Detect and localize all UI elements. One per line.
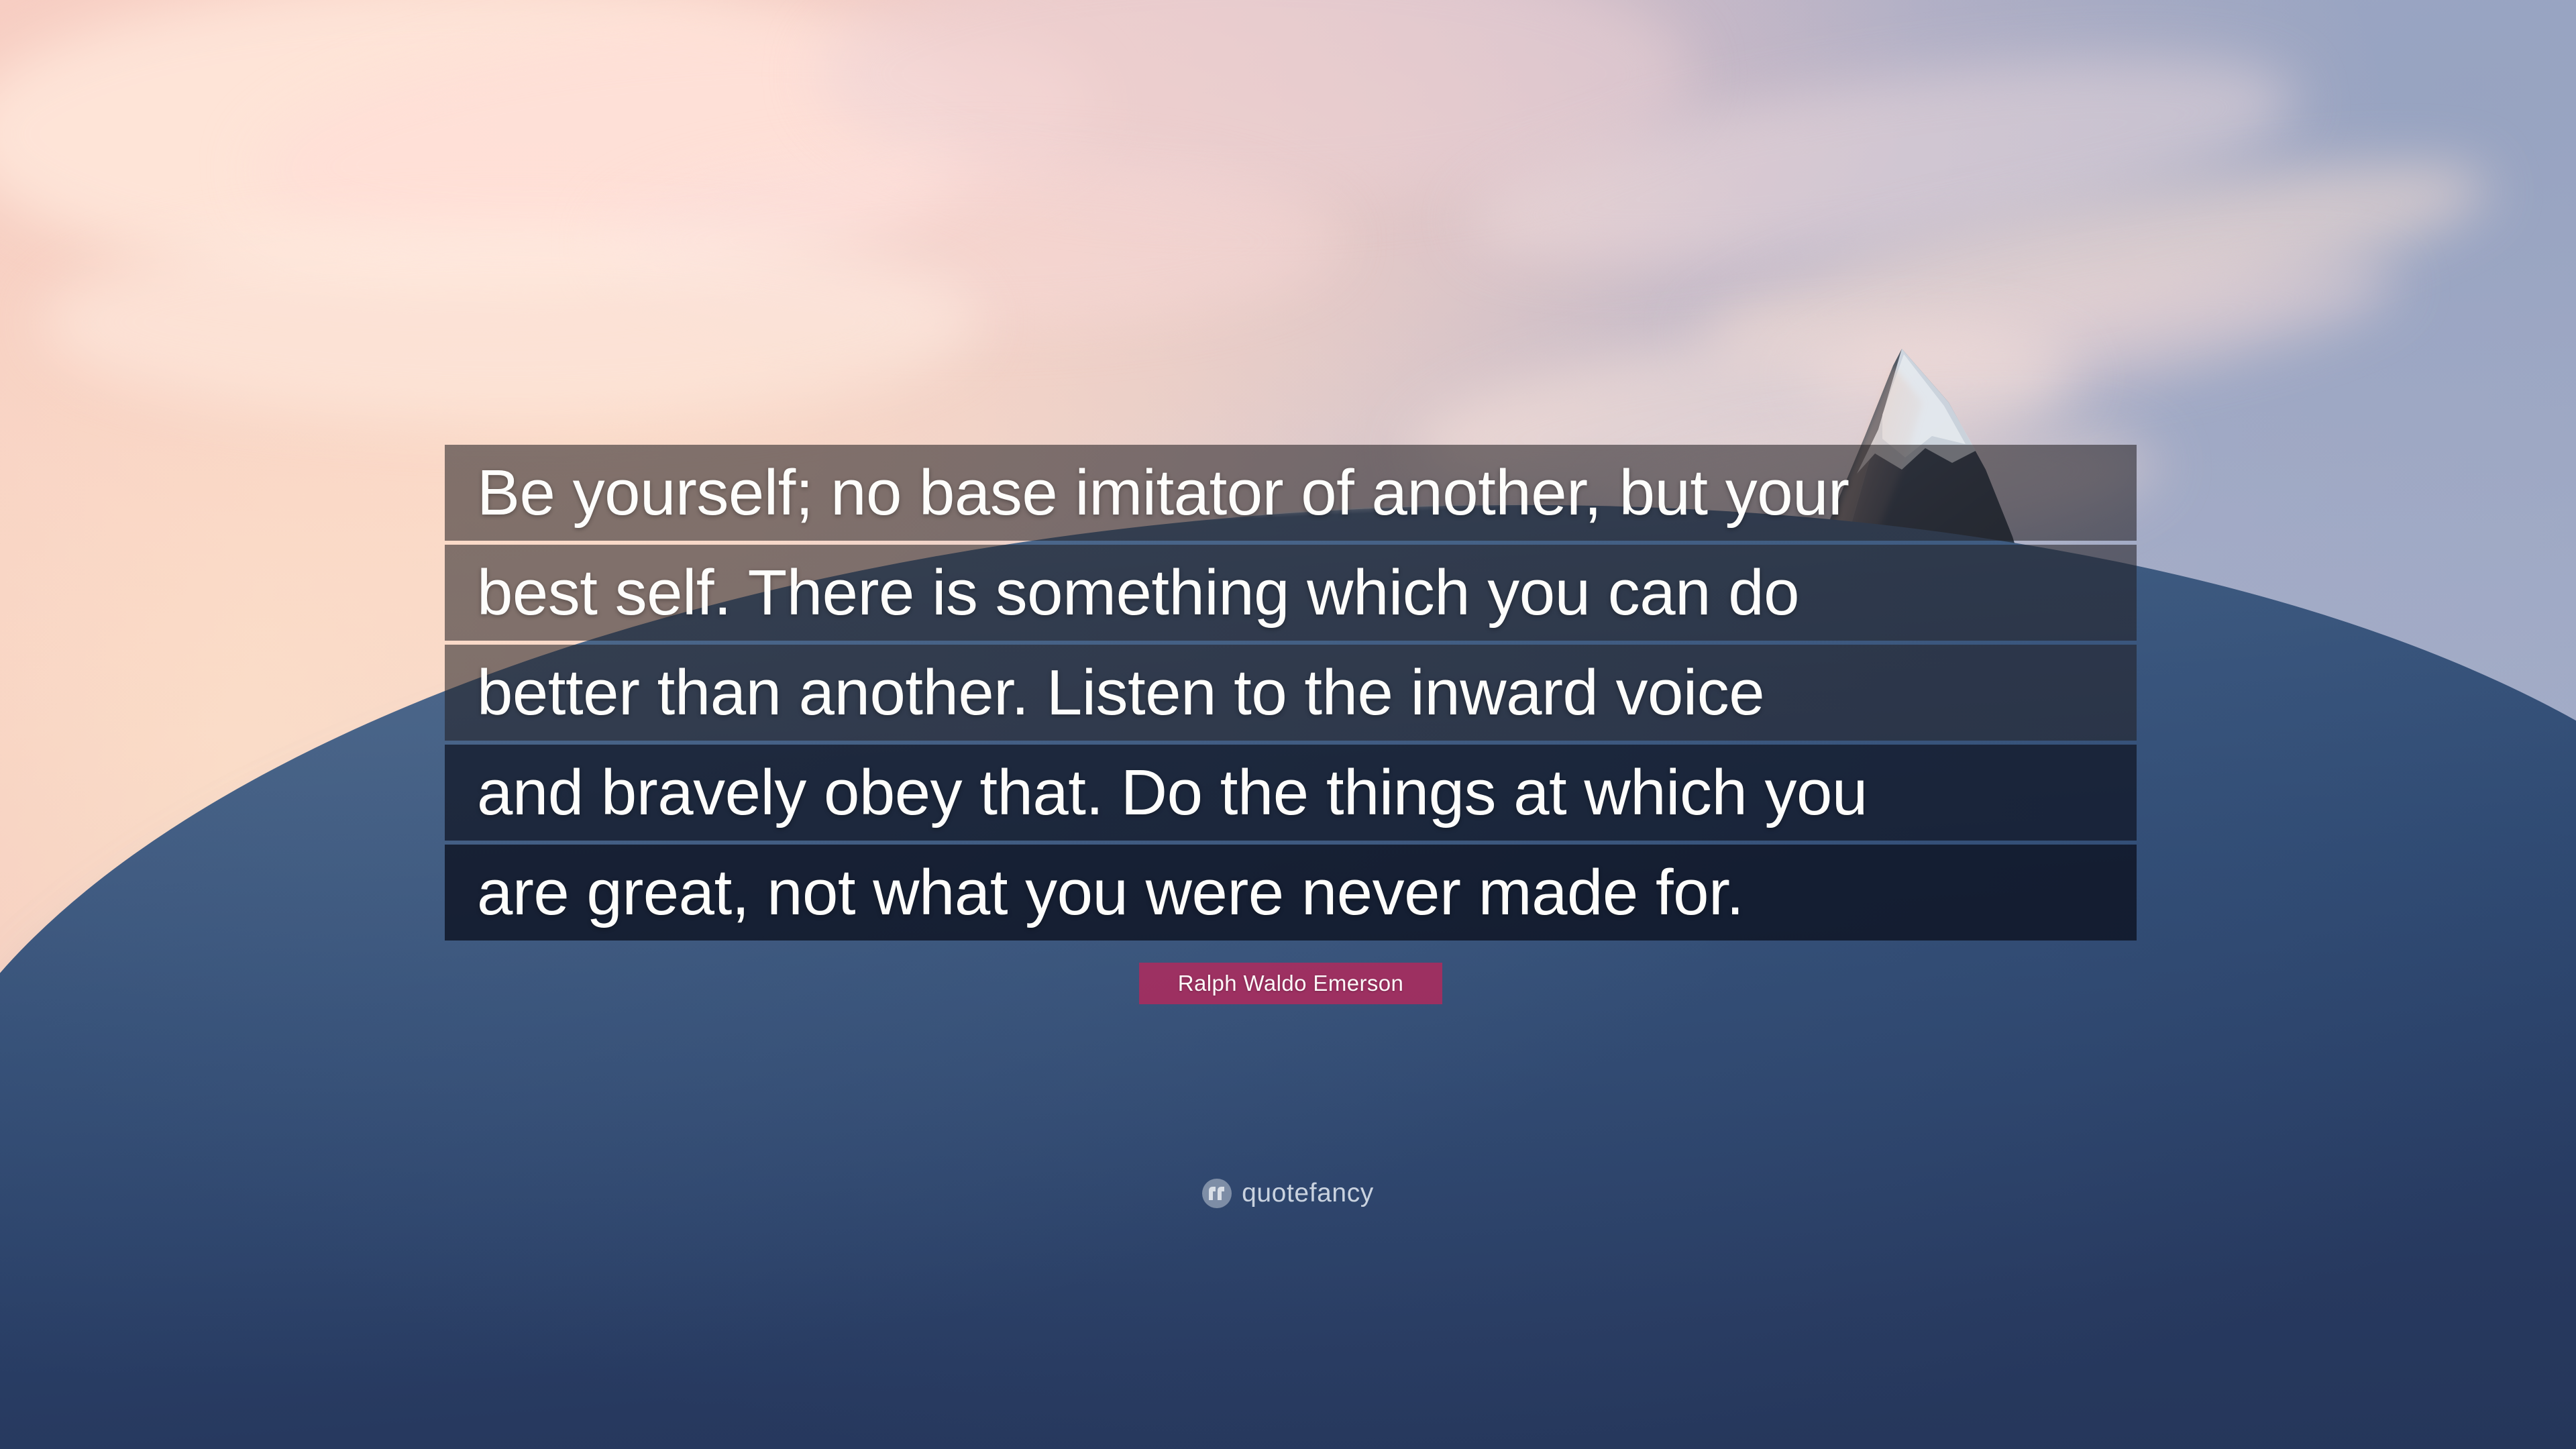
quote-line-text: and bravely obey that. Do the things at …: [477, 761, 1868, 825]
watermark-brand: quotefancy: [1242, 1179, 1374, 1208]
quote-line-text: better than another. Listen to the inwar…: [477, 661, 1764, 725]
quote-line: better than another. Listen to the inwar…: [445, 645, 2137, 741]
quote-line: Be yourself; no base imitator of another…: [445, 445, 2137, 541]
quote-line: and bravely obey that. Do the things at …: [445, 745, 2137, 841]
quote-line-text: best self. There is something which you …: [477, 561, 1799, 625]
quote-line: are great, not what you were never made …: [445, 845, 2137, 941]
quote-line-text: Be yourself; no base imitator of another…: [477, 461, 1849, 525]
quote-block: Be yourself; no base imitator of another…: [445, 445, 2137, 945]
author-badge: Ralph Waldo Emerson: [1139, 963, 1442, 1004]
quote-line-text: are great, not what you were never made …: [477, 861, 1743, 925]
author-name: Ralph Waldo Emerson: [1178, 971, 1404, 996]
wallpaper-canvas: Be yourself; no base imitator of another…: [0, 0, 2576, 1449]
double-quote-icon: [1202, 1179, 1232, 1208]
quote-line: best self. There is something which you …: [445, 545, 2137, 641]
watermark: quotefancy: [0, 1179, 2576, 1208]
